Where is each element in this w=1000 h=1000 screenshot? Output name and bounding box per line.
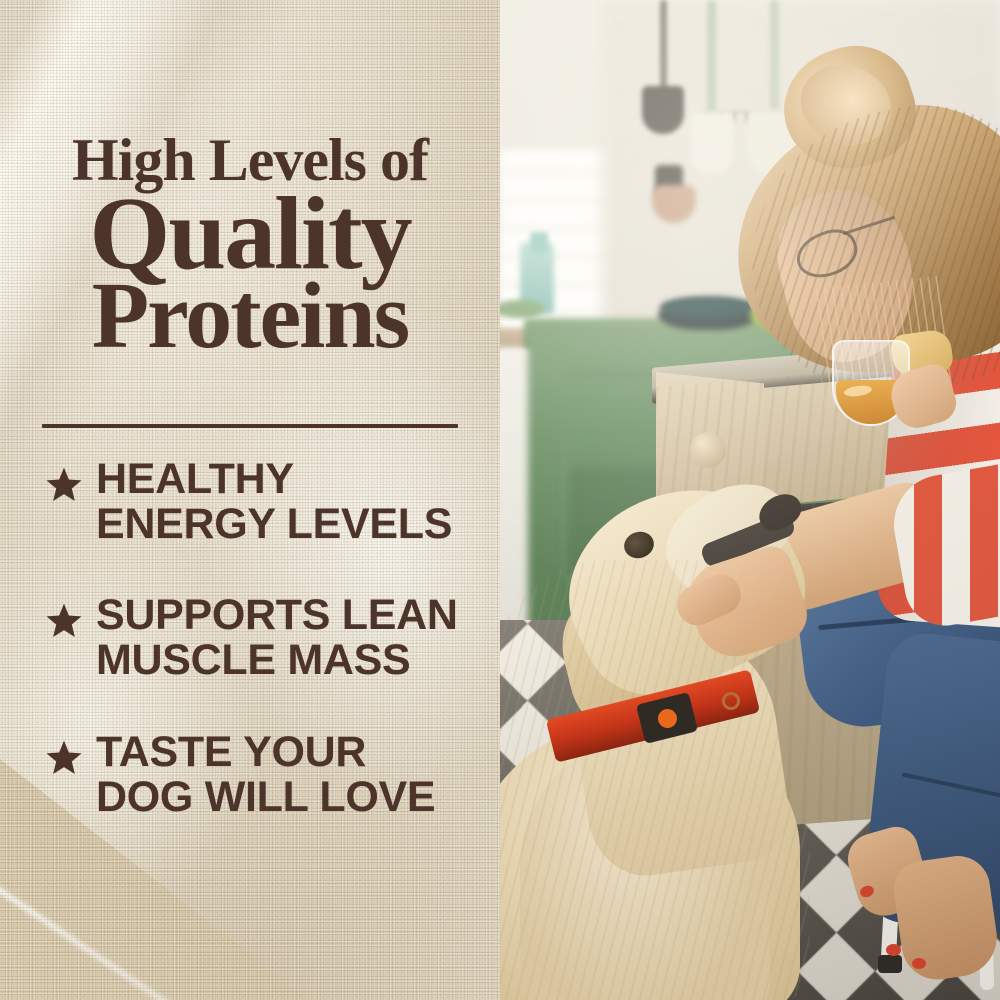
list-item: TASTE YOUR DOG WILL LOVE bbox=[0, 728, 500, 820]
benefits-list: HEALTHY ENERGY LEVELS SUPPORTS LEAN MUSC… bbox=[0, 455, 500, 820]
divider-rule bbox=[42, 424, 458, 428]
red-toenail bbox=[886, 944, 901, 956]
hanging-utensil-scoop bbox=[642, 86, 684, 134]
burlap-text-panel: High Levels of Quality Proteins HEALTHY … bbox=[0, 0, 500, 1000]
star-icon bbox=[44, 601, 84, 641]
island-drawer-knob bbox=[690, 432, 726, 468]
star-icon bbox=[44, 465, 84, 505]
list-item: SUPPORTS LEAN MUSCLE MASS bbox=[0, 591, 500, 683]
star-icon bbox=[44, 738, 84, 778]
teal-pot bbox=[660, 296, 756, 318]
product-benefit-poster: High Levels of Quality Proteins HEALTHY … bbox=[0, 0, 1000, 1000]
list-item-label: HEALTHY ENERGY LEVELS bbox=[96, 455, 452, 547]
hanging-utensil-handle bbox=[707, 0, 716, 120]
white-stool-foot bbox=[878, 955, 902, 973]
red-toenail bbox=[912, 958, 926, 969]
lifestyle-photo bbox=[500, 0, 1000, 1000]
teal-bottle-cap bbox=[530, 232, 548, 254]
hanging-utensil-scoop bbox=[690, 112, 734, 174]
list-item-label: SUPPORTS LEAN MUSCLE MASS bbox=[96, 591, 458, 683]
hanging-utensil-handle bbox=[770, 0, 779, 118]
headline-line-3: Proteins bbox=[0, 271, 500, 361]
list-item: HEALTHY ENERGY LEVELS bbox=[0, 455, 500, 547]
headline: High Levels of Quality Proteins bbox=[0, 132, 500, 362]
list-item-label: TASTE YOUR DOG WILL LOVE bbox=[96, 728, 435, 820]
left-content: High Levels of Quality Proteins HEALTHY … bbox=[0, 0, 500, 1000]
hanging-utensil-handle bbox=[660, 0, 667, 92]
